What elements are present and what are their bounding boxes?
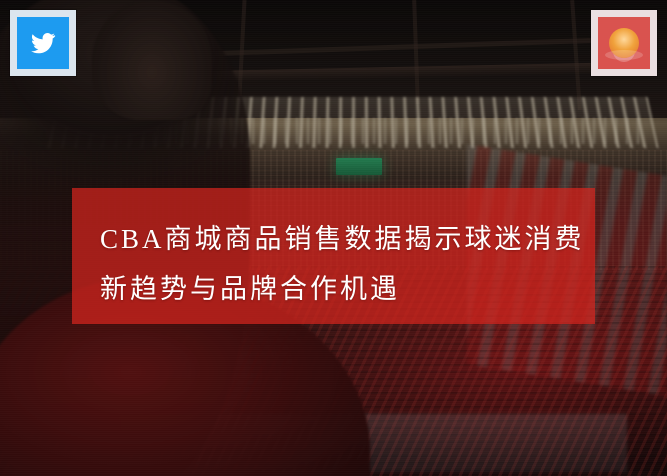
sina-weibo-share-button[interactable] [591, 10, 657, 76]
scoreboard [336, 158, 382, 175]
spectator-arm [92, 0, 212, 120]
roof-beam [238, 0, 247, 96]
headline-overlay: CBA商城商品销售数据揭示球迷消费 新趋势与品牌合作机遇 [72, 188, 595, 324]
twitter-icon [17, 17, 69, 69]
twitter-share-button[interactable] [10, 10, 76, 76]
headline-line-2: 新趋势与品牌合作机遇 [100, 264, 567, 314]
weibo-sun-glyph [609, 28, 639, 58]
sina-weibo-icon [598, 17, 650, 69]
image-canvas: CBA商城商品销售数据揭示球迷消费 新趋势与品牌合作机遇 [0, 0, 667, 476]
headline-line-1: CBA商城商品销售数据揭示球迷消费 [100, 214, 567, 264]
roof-beam [570, 0, 582, 110]
roof-beam [412, 0, 420, 104]
